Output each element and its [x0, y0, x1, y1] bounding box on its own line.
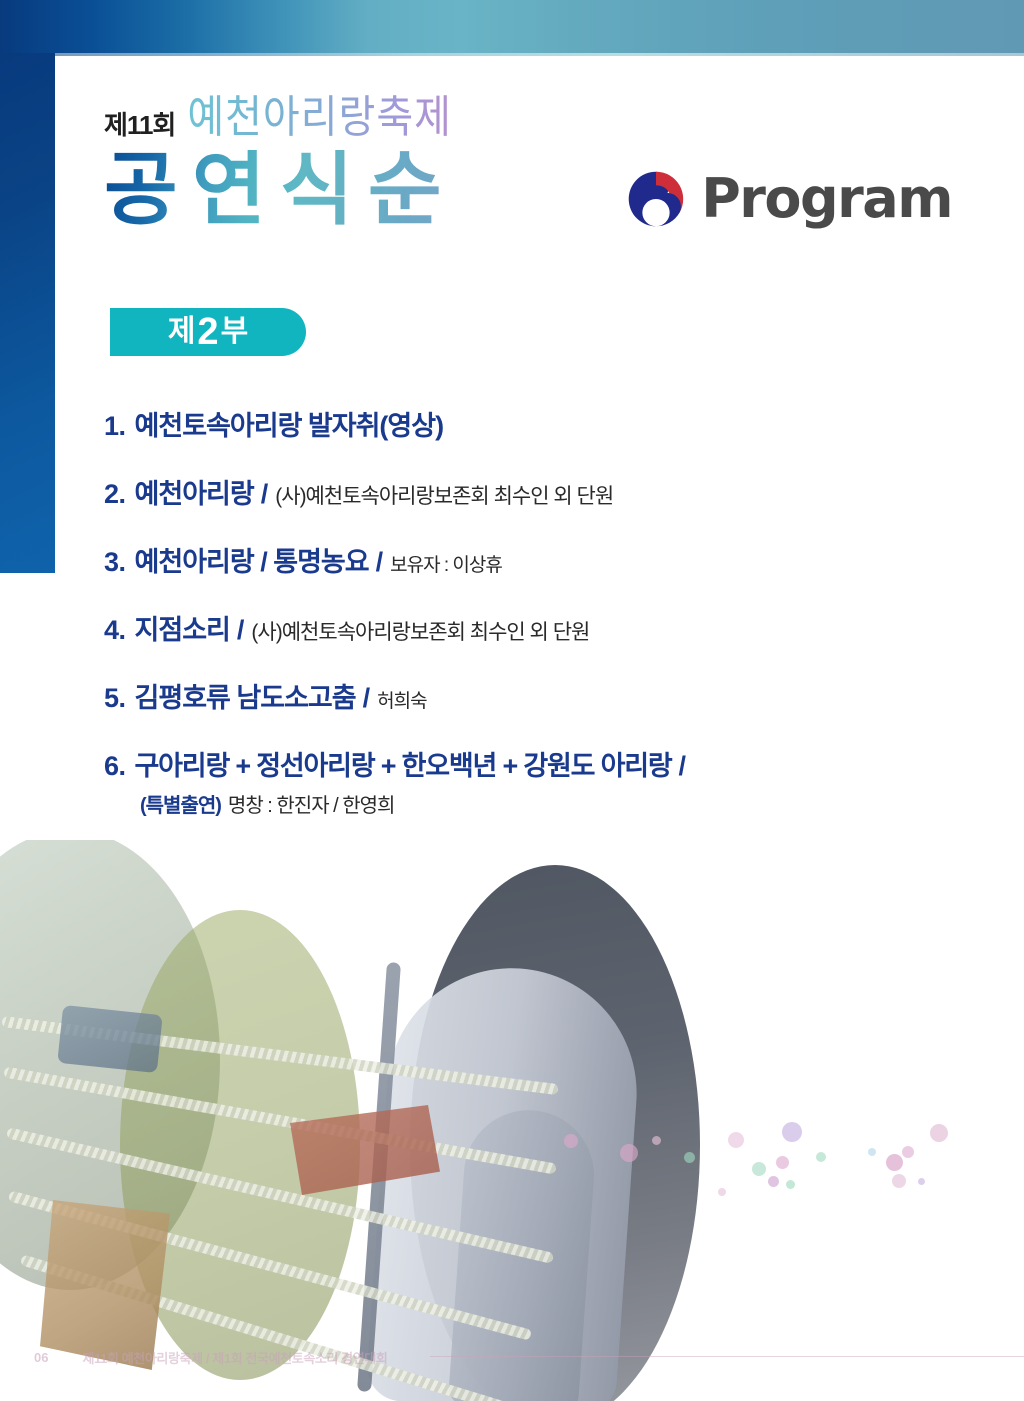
title-line-one: 제11회 예천아리랑축제 [104, 100, 452, 140]
main-title-char-1: 공 [104, 145, 176, 234]
footer-page-number: 06 [34, 1350, 48, 1365]
program-item-special-label: (특별출연) [140, 789, 221, 818]
program-item-row: 2. 예천아리랑 / (사)예천토속아리랑보존회 최수인 외 단원 [104, 472, 984, 511]
footer: 06 제11회 예천아리랑축제 / 제1회 전국예천토속소리 경연대회 [0, 1342, 1024, 1372]
part-badge-number: 2 [195, 313, 220, 351]
program-item-row: 3. 예천아리랑 / 통명농요 / 보유자 : 이상휴 [104, 540, 984, 579]
program-item-row: 4. 지점소리 / (사)예천토속아리랑보존회 최수인 외 단원 [104, 608, 984, 647]
bokeh-dot [620, 1144, 638, 1162]
bokeh-dot [886, 1154, 903, 1171]
bokeh-dot [564, 1134, 578, 1148]
program-item-row: 5. 김평호류 남도소고춤 / 허희숙 [104, 676, 984, 715]
title-separator-2: / [264, 157, 280, 231]
program-list: 1. 예천토속아리랑 발자취(영상) 2. 예천아리랑 / (사)예천토속아리랑… [104, 404, 984, 847]
taegeuk-icon [625, 168, 687, 230]
program-item-number: 1. [104, 411, 126, 442]
program-item: 6. 구아리랑 + 정선아리랑 + 한오백년 + 강원도 아리랑 / (특별출연… [104, 744, 984, 818]
title-separator-3: / [352, 157, 368, 231]
program-item: 2. 예천아리랑 / (사)예천토속아리랑보존회 최수인 외 단원 [104, 472, 984, 511]
program-item-number: 5. [104, 683, 126, 714]
program-logo-text: Program [701, 172, 952, 226]
bokeh-dot [652, 1136, 661, 1145]
program-item-title: 구아리랑 + 정선아리랑 + 한오백년 + 강원도 아리랑 [135, 744, 672, 783]
program-item-separator: / [230, 615, 252, 646]
bokeh-dot [782, 1122, 802, 1142]
program-item: 4. 지점소리 / (사)예천토속아리랑보존회 최수인 외 단원 [104, 608, 984, 647]
brochure-page: 제11회 예천아리랑축제 공/연/식/순 Program 제 2 부 1. 예천… [0, 0, 1024, 1401]
bokeh-dot [786, 1180, 795, 1189]
program-item-separator: / [356, 683, 378, 714]
bokeh-dot [868, 1148, 876, 1156]
program-item-number: 4. [104, 615, 126, 646]
program-item-title: 예천토속아리랑 발자취(영상) [135, 404, 444, 443]
bokeh-dot [728, 1132, 744, 1148]
bokeh-dot [768, 1176, 779, 1187]
bokeh-dot [930, 1124, 948, 1142]
header-band-edge [0, 53, 1024, 56]
part-badge-prefix: 제 [168, 317, 196, 347]
program-item-separator: / [369, 547, 391, 578]
metal-clip-shape [57, 1005, 163, 1073]
program-item-title: 김평호류 남도소고춤 [135, 676, 356, 715]
part-badge: 제 2 부 [110, 308, 306, 356]
program-item-title: 예천아리랑 [135, 472, 254, 511]
program-item-special-performer: 명창 : 한진자 / 한영희 [228, 789, 395, 818]
bokeh-dot [892, 1174, 906, 1188]
program-item: 5. 김평호류 남도소고춤 / 허희숙 [104, 676, 984, 715]
program-item-performer: 보유자 : 이상휴 [390, 550, 502, 577]
bokeh-dot [718, 1188, 726, 1196]
bokeh-dot-field [600, 1130, 1020, 1270]
program-item-row: 1. 예천토속아리랑 발자취(영상) [104, 404, 984, 443]
header-gradient-band [0, 0, 1024, 53]
program-item: 1. 예천토속아리랑 발자취(영상) [104, 404, 984, 443]
program-item-performer: 허희숙 [377, 686, 426, 713]
bokeh-dot [752, 1162, 766, 1176]
program-item-row: 6. 구아리랑 + 정선아리랑 + 한오백년 + 강원도 아리랑 / [104, 744, 984, 783]
bokeh-dot [816, 1152, 826, 1162]
bokeh-dot [902, 1146, 914, 1158]
title-separator-1: / [176, 157, 192, 231]
decorative-photo-collage [0, 840, 1024, 1401]
program-item-number: 2. [104, 479, 126, 510]
festival-name: 예천아리랑축제 [187, 95, 452, 140]
footer-divider [430, 1356, 1024, 1357]
program-item-title: 예천아리랑 / 통명농요 [135, 540, 369, 579]
program-item-number: 3. [104, 547, 126, 578]
program-item-performer: (사)예천토속아리랑보존회 최수인 외 단원 [275, 480, 613, 510]
bokeh-dot [776, 1156, 789, 1169]
program-item: 3. 예천아리랑 / 통명농요 / 보유자 : 이상휴 [104, 540, 984, 579]
program-item-performer: (사)예천토속아리랑보존회 최수인 외 단원 [251, 616, 589, 646]
bokeh-dot [684, 1152, 695, 1163]
program-item-number: 6. [104, 751, 126, 782]
program-item-separator: / [254, 479, 276, 510]
part-badge-suffix: 부 [221, 317, 249, 347]
main-title-char-2: 연 [192, 145, 264, 234]
main-title-char-4: 순 [368, 145, 440, 234]
bokeh-dot [918, 1178, 925, 1185]
program-logo: Program [625, 168, 952, 230]
main-title: 공/연/식/순 [104, 150, 439, 230]
program-item-subrow: (특별출연) 명창 : 한진자 / 한영희 [140, 789, 984, 818]
footer-caption: 제11회 예천아리랑축제 / 제1회 전국예천토속소리 경연대회 [82, 1348, 387, 1367]
program-item-separator: / [672, 751, 694, 782]
program-item-title: 지점소리 [135, 608, 230, 647]
edition-label: 제11회 [104, 112, 175, 140]
main-title-char-3: 식 [280, 145, 352, 234]
